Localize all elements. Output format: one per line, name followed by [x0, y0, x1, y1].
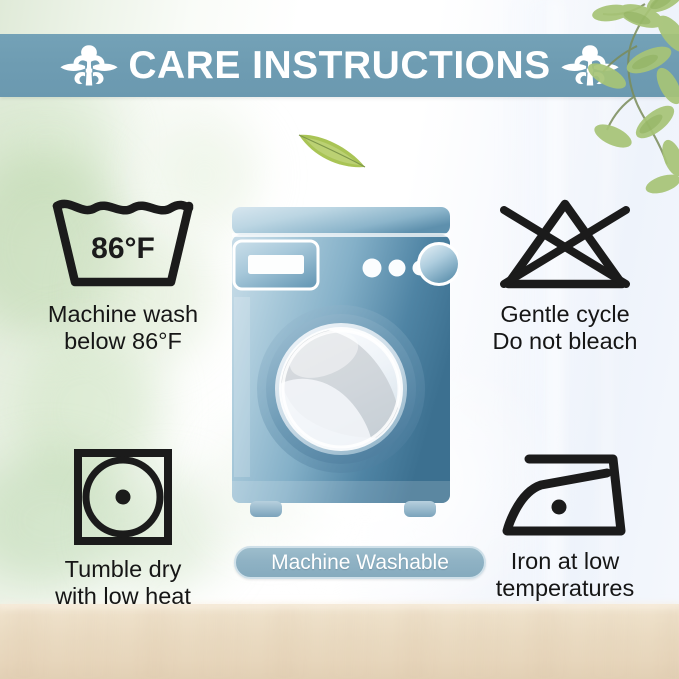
care-symbol-label: Machine wash below 86°F	[48, 301, 198, 356]
care-instructions-infographic: CARE INSTRUCTIONS	[0, 0, 679, 679]
triangle-crossed-out-icon	[490, 196, 640, 292]
status-badge: Machine Washable	[234, 546, 486, 579]
care-symbol-label: Iron at low temperatures	[496, 548, 634, 603]
care-symbol-tumble-dry: Tumble dry with low heat	[8, 447, 238, 611]
leaf-icon	[295, 125, 369, 173]
status-badge-label: Machine Washable	[271, 552, 449, 573]
tumble-dry-icon	[69, 447, 177, 547]
page-title: CARE INSTRUCTIONS	[122, 46, 556, 85]
care-symbol-iron: Iron at low temperatures	[455, 447, 675, 603]
care-symbol-label: Gentle cycle Do not bleach	[492, 301, 637, 356]
wash-temperature-value: 86°F	[91, 232, 155, 265]
wash-tub-icon: 86°F	[48, 196, 198, 292]
fleur-de-lis-icon	[56, 40, 122, 92]
care-symbol-gentle-cycle-no-bleach: Gentle cycle Do not bleach	[455, 196, 675, 356]
wood-grain-texture	[0, 604, 679, 679]
washing-machine-illustration	[224, 205, 458, 529]
care-symbol-machine-wash: 86°F Machine wash below 86°F	[8, 196, 238, 356]
iron-icon	[495, 447, 635, 539]
care-symbol-label: Tumble dry with low heat	[55, 556, 191, 611]
plant-leaves-icon	[545, 0, 679, 201]
